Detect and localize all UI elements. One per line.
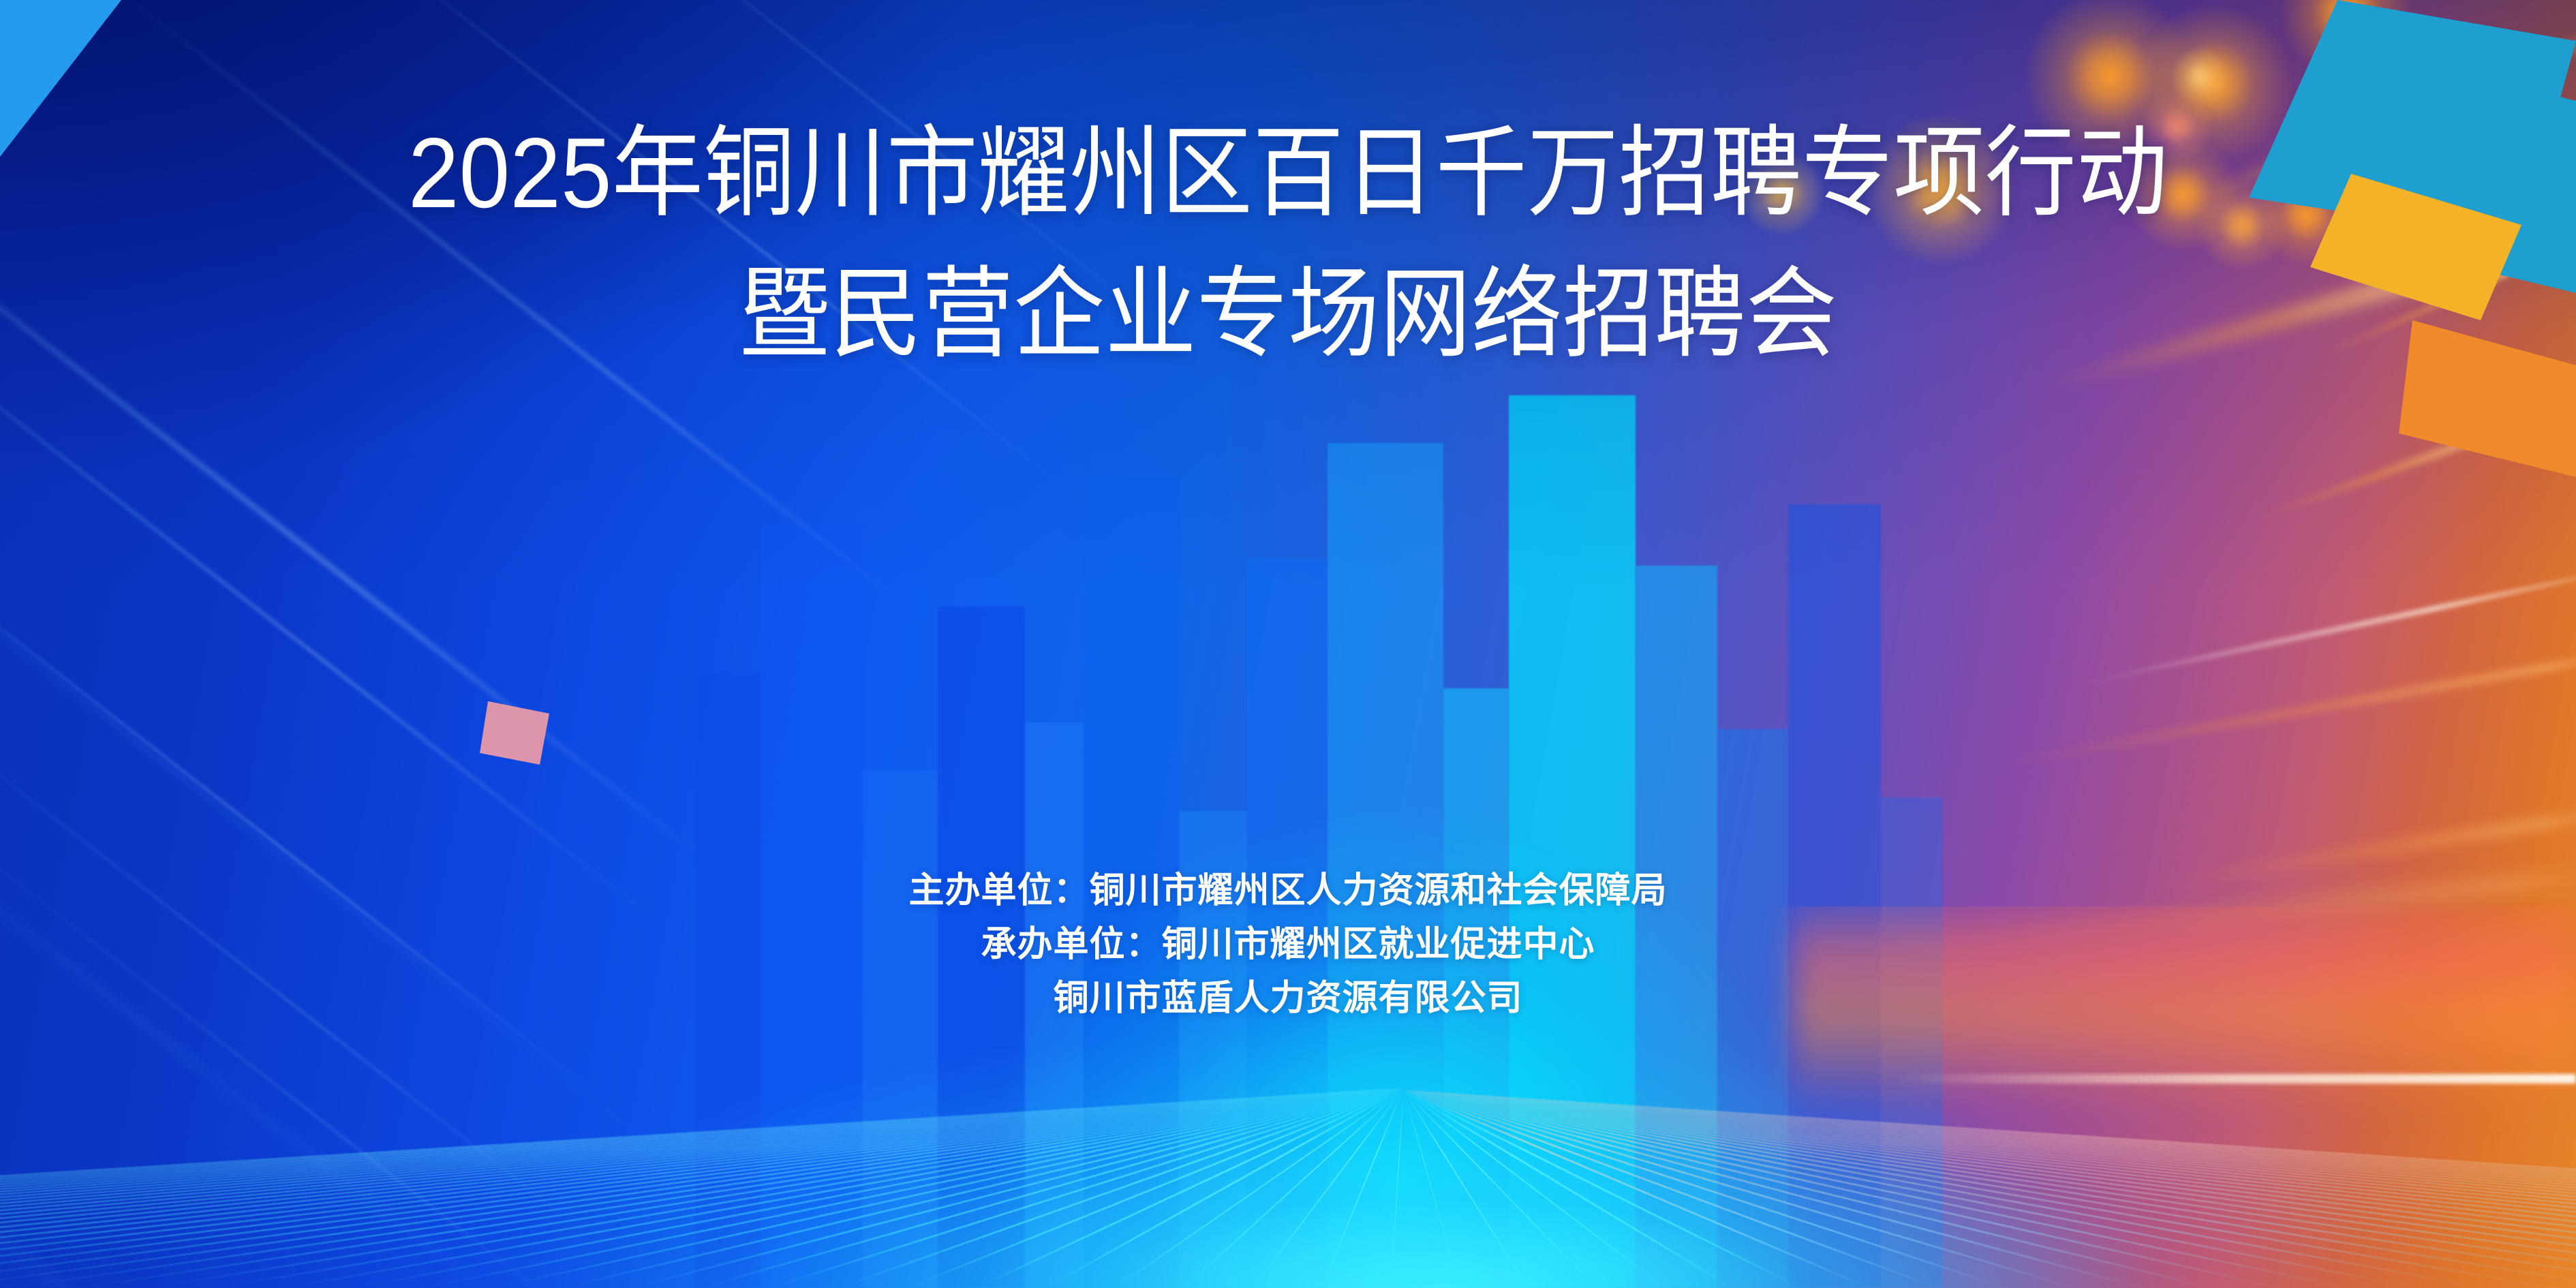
organizer-line-company: 铜川市蓝盾人力资源有限公司 xyxy=(0,972,2576,1026)
organizer-line-host: 主办单位：铜川市耀州区人力资源和社会保障局 xyxy=(0,864,2576,918)
organizer-line-coordinator: 承办单位：铜川市耀州区就业促进中心 xyxy=(0,918,2576,972)
organizers-block: 主办单位：铜川市耀州区人力资源和社会保障局 承办单位：铜川市耀州区就业促进中心 … xyxy=(0,864,2576,1026)
title-block: 2025年铜川市耀州区百日千万招聘专项行动 暨民营企业专场网络招聘会 xyxy=(0,102,2576,385)
title-line-1: 2025年铜川市耀州区百日千万招聘专项行动 xyxy=(103,102,2473,243)
recruitment-banner: 2025年铜川市耀州区百日千万招聘专项行动 暨民营企业专场网络招聘会 主办单位：… xyxy=(0,0,2576,1288)
title-line-2: 暨民营企业专场网络招聘会 xyxy=(103,243,2473,384)
